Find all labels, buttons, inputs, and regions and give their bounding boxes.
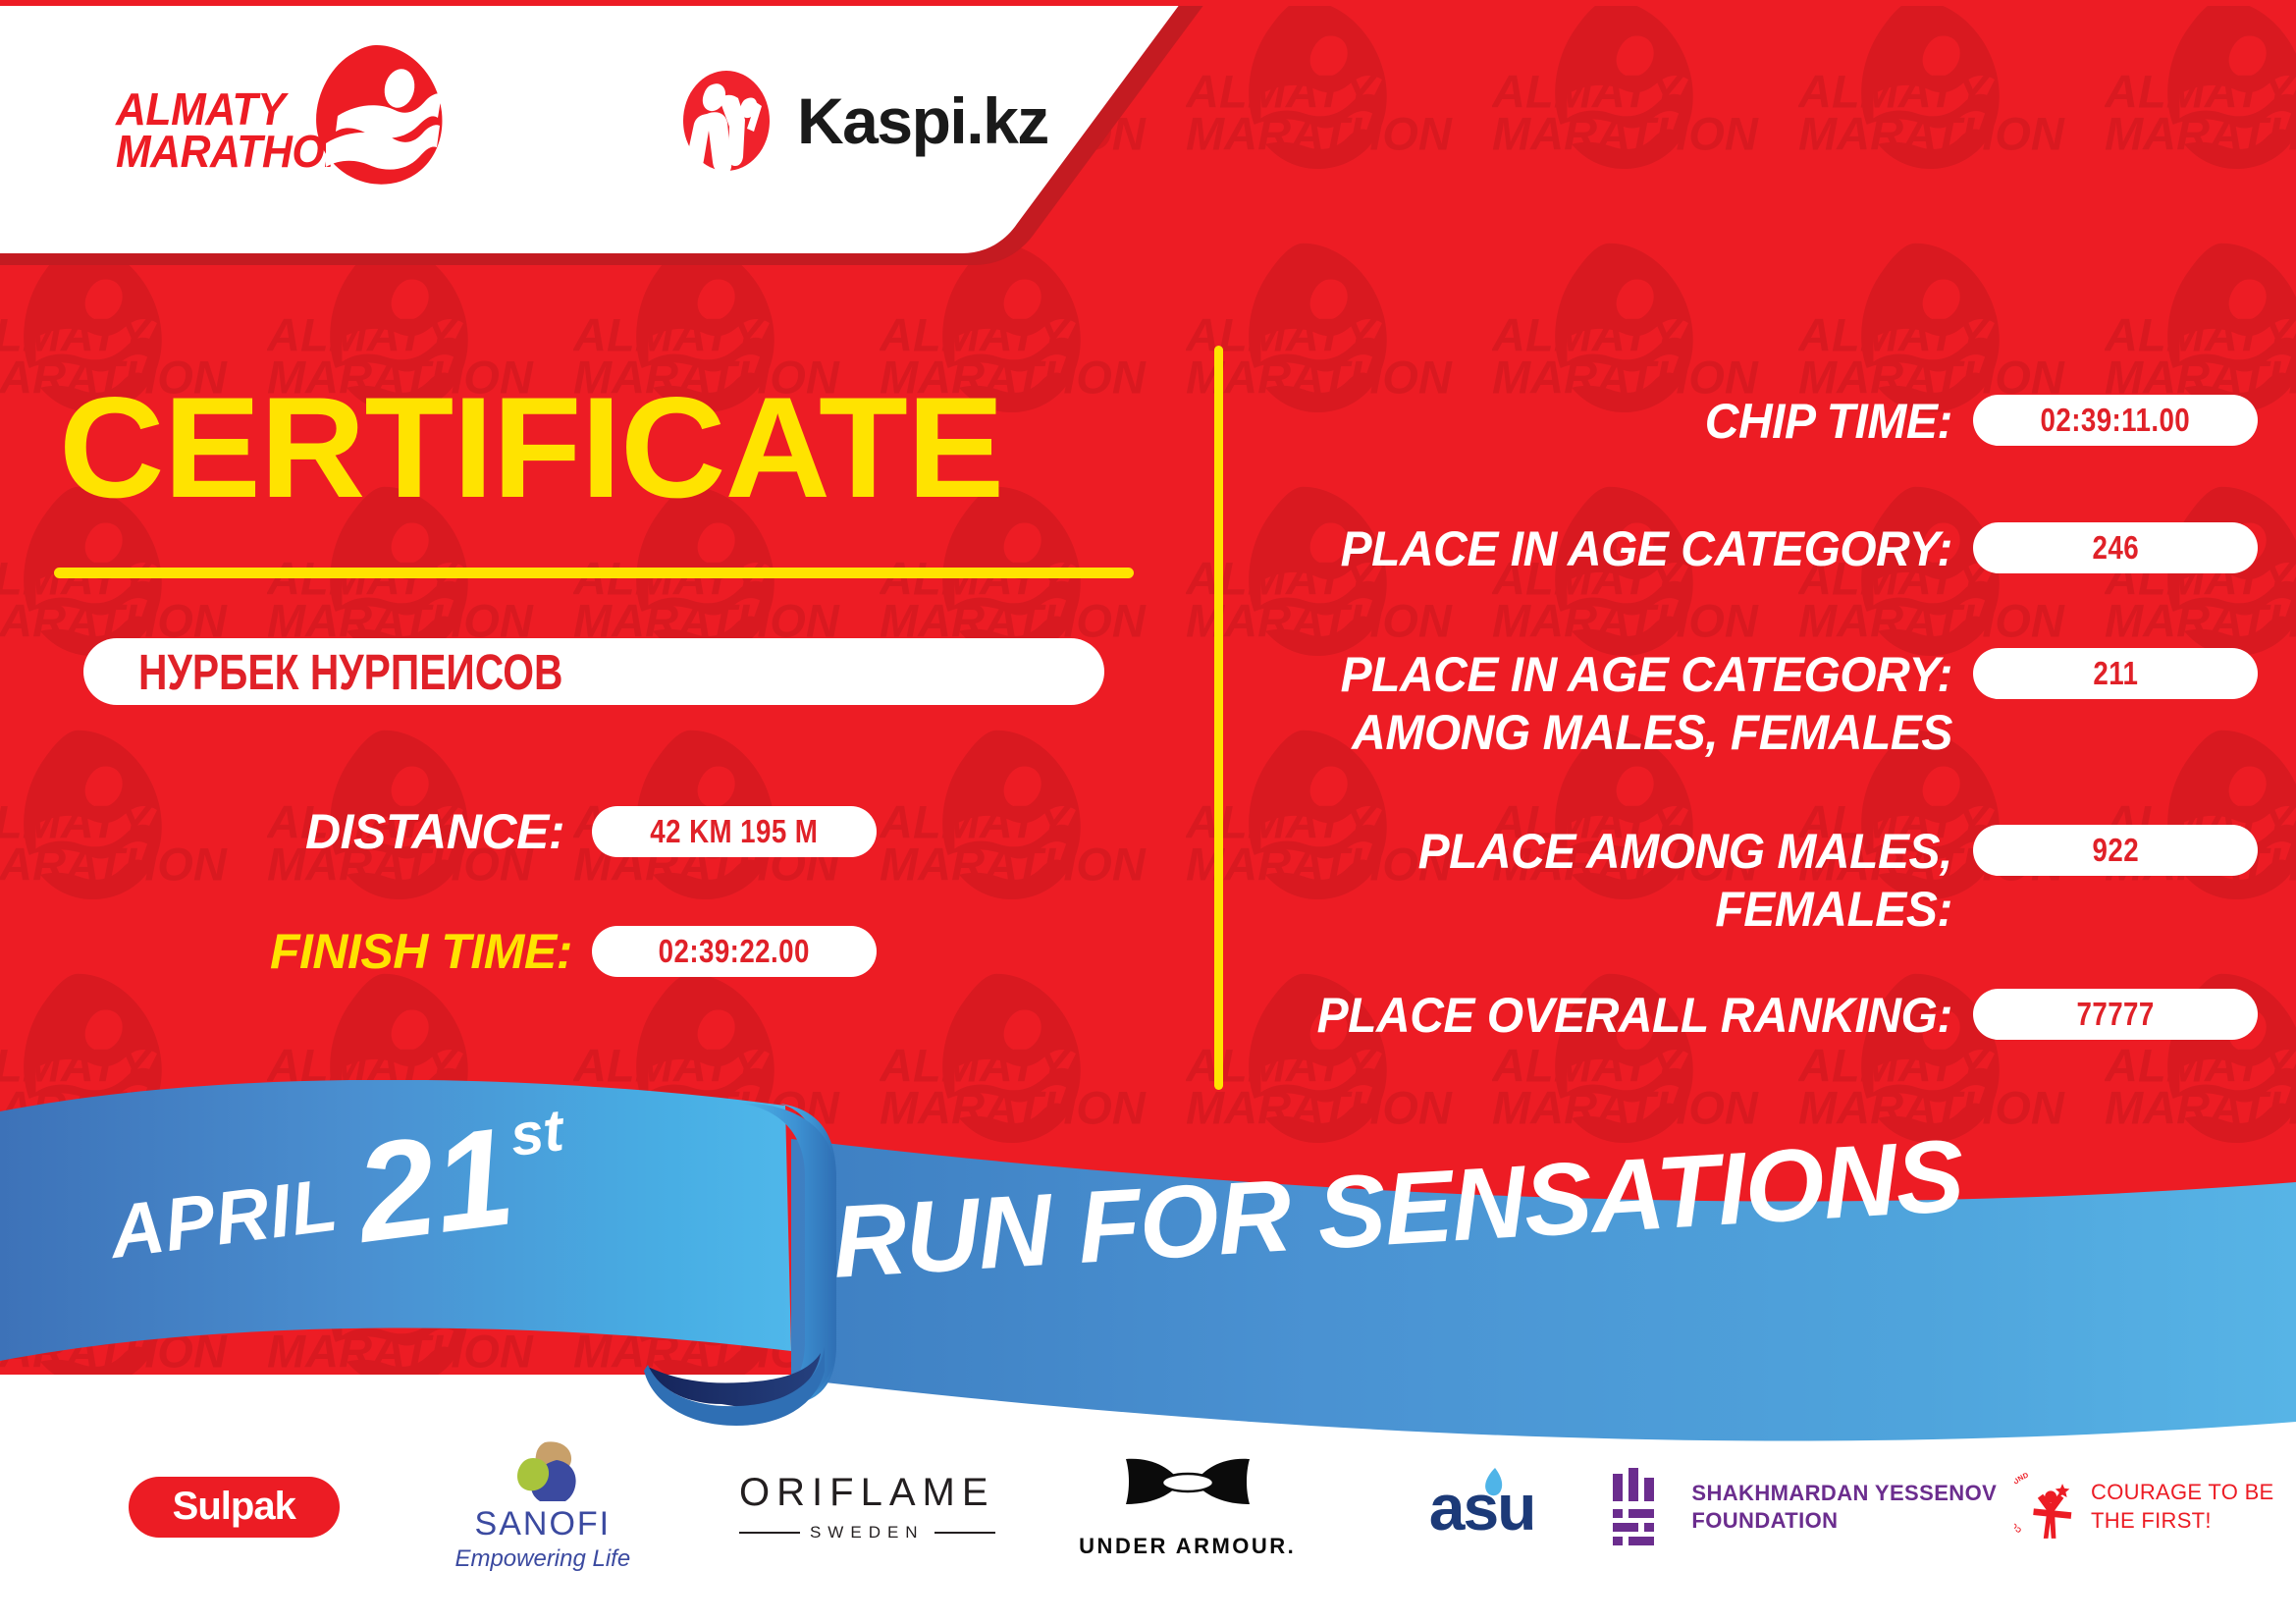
place-age-category-gender-value: 211 xyxy=(2093,655,2138,692)
place-among-gender-value: 922 xyxy=(2092,832,2139,869)
place-among-gender-label: PLACE AMONG MALES, FEMALES: xyxy=(1304,823,1973,938)
place-overall-ranking-value: 77777 xyxy=(2076,996,2154,1033)
under-armour-label: UNDER ARMOUR. xyxy=(1079,1534,1296,1559)
page-title: CERTIFICATE xyxy=(59,376,1003,519)
place-age-category-label: PLACE IN AGE CATEGORY: xyxy=(1304,520,1973,578)
oriflame-tagline: SWEDEN xyxy=(810,1523,925,1543)
place-age-category-gender-value-pill: 211 xyxy=(1973,648,2258,699)
place-age-category-value: 246 xyxy=(2092,529,2139,567)
chip-time-value: 02:39:11.00 xyxy=(2041,402,2191,439)
place-among-gender-row: PLACE AMONG MALES, FEMALES: 922 xyxy=(1276,823,2258,938)
ribbon-day: 21 xyxy=(351,1120,519,1250)
finish-time-label: FINISH TIME: xyxy=(270,923,564,980)
place-age-category-value-pill: 246 xyxy=(1973,522,2258,573)
column-divider xyxy=(1214,346,1223,1090)
kaspi-logo: Kaspi.kz xyxy=(677,69,1048,173)
finish-time-value: 02:39:22.00 xyxy=(659,933,810,970)
place-overall-ranking-value-pill: 77777 xyxy=(1973,989,2258,1040)
chip-time-label: CHIP TIME: xyxy=(1304,393,1973,451)
title-underline-rule xyxy=(54,568,1134,578)
distance-label: DISTANCE: xyxy=(270,803,564,860)
distance-value: 42 KM 195 M xyxy=(650,813,818,850)
place-age-category-gender-row: PLACE IN AGE CATEGORY: AMONG MALES, FEMA… xyxy=(1276,646,2258,761)
top-red-edge xyxy=(0,0,2296,6)
chip-time-row: CHIP TIME: 02:39:11.00 xyxy=(1276,393,2258,451)
place-among-gender-value-pill: 922 xyxy=(1973,825,2258,876)
athlete-name-field: НУРБЕК НУРПЕИСОВ xyxy=(83,638,1104,705)
finish-time-value-pill: 02:39:22.00 xyxy=(592,926,877,977)
kaspi-mark-icon xyxy=(677,69,775,173)
place-overall-ranking-row: PLACE OVERALL RANKING: 77777 xyxy=(1276,987,2258,1045)
oriflame-rule-left xyxy=(739,1532,800,1534)
runner-mark-icon xyxy=(308,41,446,189)
place-overall-ranking-label: PLACE OVERALL RANKING: xyxy=(1304,987,1973,1045)
almaty-marathon-logo: ALMATY MARATHON xyxy=(116,59,440,201)
sanofi-label: SANOFI xyxy=(475,1505,612,1543)
athlete-name-value: НУРБЕК НУРПЕИСОВ xyxy=(138,643,562,701)
distance-row: DISTANCE: 42 KM 195 M xyxy=(270,803,877,860)
oriflame-rule-right xyxy=(934,1532,995,1534)
ribbon-day-suffix: st xyxy=(507,1096,567,1169)
kaspi-wordmark: Kaspi.kz xyxy=(797,83,1048,158)
finish-time-row: FINISH TIME: 02:39:22.00 xyxy=(270,923,877,980)
chip-time-value-pill: 02:39:11.00 xyxy=(1973,395,2258,446)
oriflame-sub: SWEDEN xyxy=(739,1523,994,1543)
distance-value-pill: 42 KM 195 M xyxy=(592,806,877,857)
header-logos: ALMATY MARATHON Kaspi.kz xyxy=(0,0,1394,281)
place-age-category-row: PLACE IN AGE CATEGORY: 246 xyxy=(1276,520,2258,578)
certificate-page: ALMATY MARATHON ALMATY MARATHON xyxy=(0,0,2296,1624)
place-age-category-gender-label: PLACE IN AGE CATEGORY: AMONG MALES, FEMA… xyxy=(1304,646,1973,761)
yessenov-tagline: FOUNDATION xyxy=(1691,1507,1997,1535)
sanofi-tagline: Empowering Life xyxy=(454,1545,630,1573)
